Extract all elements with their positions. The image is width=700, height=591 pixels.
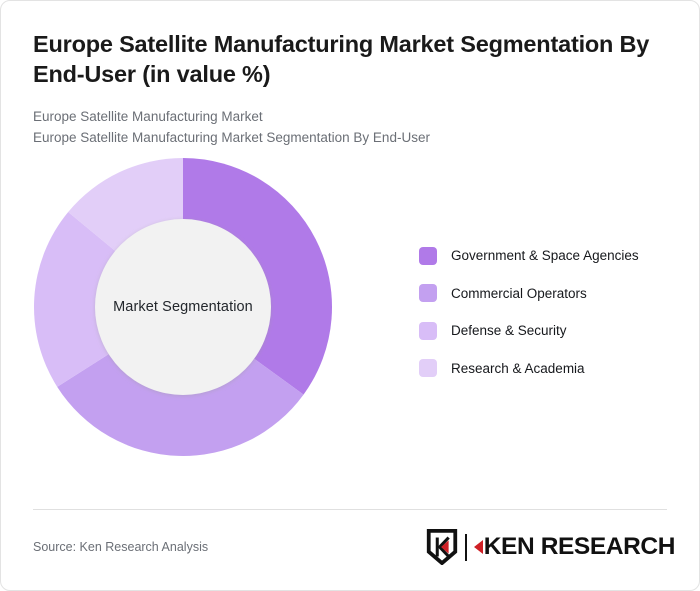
brand-separator bbox=[465, 534, 467, 561]
ken-research-shield-icon bbox=[425, 529, 459, 565]
legend-label: Commercial Operators bbox=[451, 286, 587, 301]
legend-label: Defense & Security bbox=[451, 323, 567, 338]
brand-triangle-icon bbox=[474, 540, 483, 554]
legend-swatch-icon bbox=[419, 322, 437, 340]
page-title: Europe Satellite Manufacturing Market Se… bbox=[33, 29, 667, 89]
brand-wordmark: KEN RESEARCH bbox=[474, 533, 675, 561]
chart-card: Europe Satellite Manufacturing Market Se… bbox=[0, 0, 700, 591]
legend-swatch-icon bbox=[419, 284, 437, 302]
chart-legend: Government & Space AgenciesCommercial Op… bbox=[419, 237, 679, 387]
subtitle-market: Europe Satellite Manufacturing Market bbox=[33, 106, 667, 127]
legend-item[interactable]: Government & Space Agencies bbox=[419, 237, 679, 275]
chart-area: Market Segmentation Government & Space A… bbox=[1, 149, 699, 479]
legend-label: Research & Academia bbox=[451, 361, 585, 376]
legend-item[interactable]: Research & Academia bbox=[419, 349, 679, 387]
chart-footer: Source: Ken Research Analysis KEN RESEAR… bbox=[33, 526, 675, 568]
donut-chart: Market Segmentation bbox=[33, 157, 333, 457]
legend-swatch-icon bbox=[419, 247, 437, 265]
footer-divider bbox=[33, 509, 667, 510]
subtitle-segmentation: Europe Satellite Manufacturing Market Se… bbox=[33, 127, 667, 148]
brand-name-text: KEN RESEARCH bbox=[484, 533, 675, 561]
legend-item[interactable]: Defense & Security bbox=[419, 312, 679, 350]
source-note: Source: Ken Research Analysis bbox=[33, 540, 208, 554]
legend-item[interactable]: Commercial Operators bbox=[419, 274, 679, 312]
subtitle-group: Europe Satellite Manufacturing Market Eu… bbox=[33, 106, 667, 149]
donut-hole bbox=[95, 219, 271, 395]
legend-label: Government & Space Agencies bbox=[451, 248, 639, 263]
brand-logo: KEN RESEARCH bbox=[425, 529, 675, 565]
chart-header: Europe Satellite Manufacturing Market Se… bbox=[1, 1, 699, 149]
donut-svg bbox=[33, 157, 333, 457]
legend-swatch-icon bbox=[419, 359, 437, 377]
